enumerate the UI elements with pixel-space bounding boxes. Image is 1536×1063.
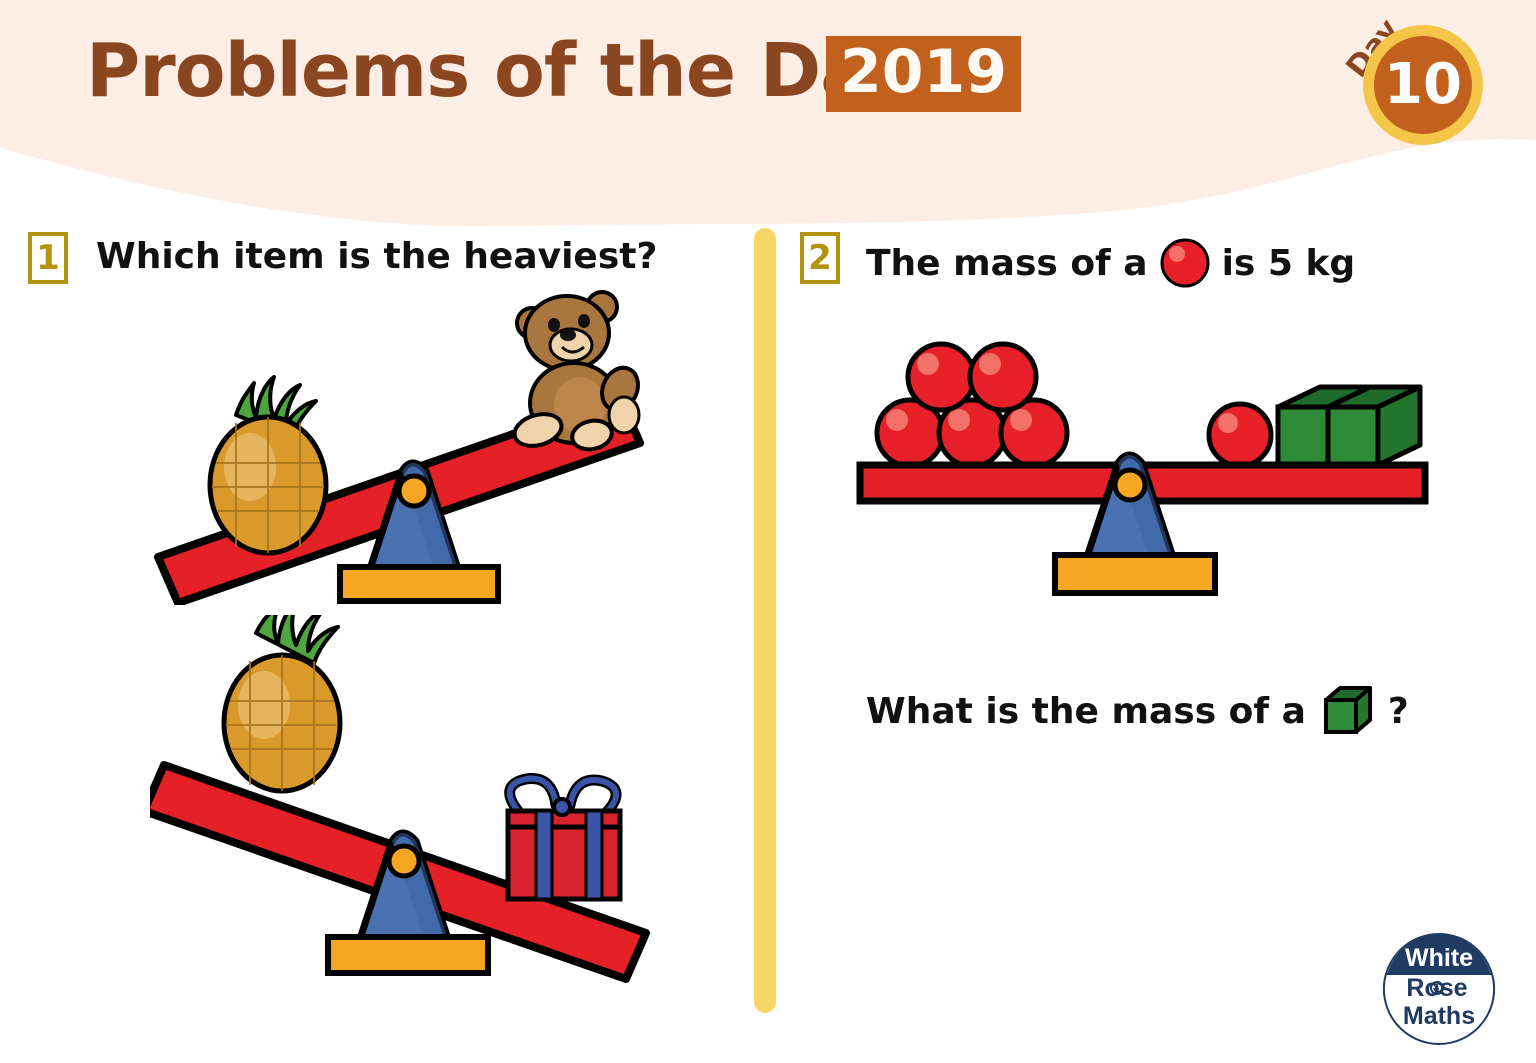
seesaw-base-2 (328, 937, 488, 973)
green-cube-icon (1316, 680, 1378, 742)
red-ball (970, 344, 1036, 410)
balance-scale-balls-cubes (850, 335, 1435, 610)
seesaw-base-3 (1055, 555, 1215, 593)
question-1-number: 1 (28, 232, 68, 284)
white-rose-maths-logo: White Rose Maths (1380, 930, 1498, 1048)
question-1-prompt: Which item is the heaviest? (96, 236, 657, 277)
pineapple-icon-2 (224, 615, 340, 791)
question-2-prompt: The mass of a is 5 kg (866, 236, 1355, 290)
teddy-bear-icon (511, 292, 645, 453)
logo-line-3: Maths (1403, 1002, 1475, 1030)
page-header: Problems of the Day 2019 Day 10 (0, 0, 1536, 230)
day-number: 10 (1384, 57, 1462, 113)
red-ball (908, 344, 974, 410)
red-ball-right-pan (1209, 404, 1271, 466)
logo-line-1: White (1405, 944, 1473, 972)
worksheet-page: Problems of the Day 2019 Day 10 1 Which … (0, 0, 1536, 1063)
seesaw-base-1 (340, 567, 498, 601)
gift-box-icon (508, 779, 620, 899)
question-2-followup-before: What is the mass of a (866, 691, 1306, 732)
balance-scale-pineapple-gift (150, 615, 690, 985)
green-cube-right-2 (1328, 387, 1420, 465)
question-2-prompt-before: The mass of a (866, 243, 1148, 284)
column-divider (754, 228, 776, 1013)
balance-scale-pineapple-teddy (150, 285, 690, 605)
logo-line-2: Rose (1406, 974, 1467, 1002)
page-title: Problems of the Day (86, 28, 914, 114)
question-2-number: 2 (800, 232, 840, 284)
year-badge: 2019 (826, 36, 1021, 112)
question-2-followup-after: ? (1388, 691, 1409, 732)
red-balls-left-pan (877, 344, 1067, 466)
day-badge: Day 10 (1363, 25, 1483, 145)
red-ball-icon (1158, 236, 1212, 290)
question-1-prompt-text: Which item is the heaviest? (96, 236, 657, 277)
question-2-prompt-after: is 5 kg (1222, 243, 1356, 284)
question-2-followup: What is the mass of a ? (866, 680, 1409, 742)
pineapple-icon-1 (210, 377, 326, 553)
day-badge-circle: 10 (1374, 36, 1472, 134)
